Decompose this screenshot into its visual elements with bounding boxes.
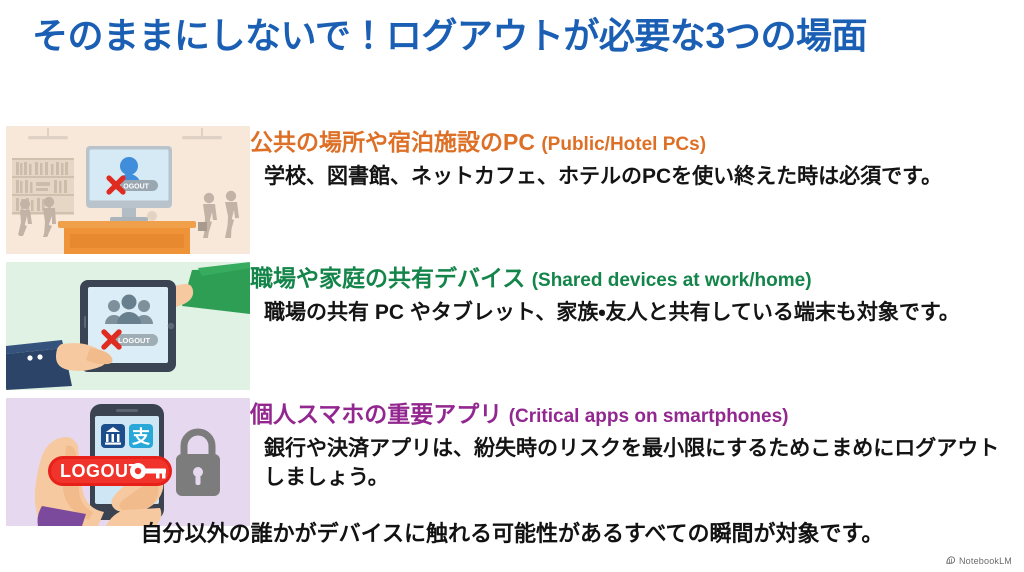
smartphone-banking-logout-illustration: 支 <box>6 398 250 526</box>
section-shared-devices: LOGOUT <box>0 262 1024 392</box>
svg-text:LOGOUT: LOGOUT <box>118 336 150 345</box>
section-2-heading: 職場や家庭の共有デバイス (Shared devices at work/hom… <box>250 264 1002 293</box>
section-3-body: 銀行や決済アプリは、紛失時のリスクを最小限にするためこまめにログアウトしましょう… <box>250 435 1002 493</box>
notebooklm-watermark-label: NotebookLM <box>959 556 1012 566</box>
section-3-heading: 個人スマホの重要アプリ (Critical apps on smartphone… <box>250 400 1002 429</box>
section-2-text: 職場や家庭の共有デバイス (Shared devices at work/hom… <box>250 262 1024 328</box>
ceiling-lamp-right <box>182 136 222 139</box>
user-avatar-icon <box>120 157 138 175</box>
bank-app-icon <box>101 424 125 448</box>
section-1-heading-ja: 公共の場所や宿泊施設のPC <box>250 129 535 155</box>
ceiling-lamp-left <box>28 136 68 139</box>
section-3-heading-en: (Critical apps on smartphones) <box>509 406 789 427</box>
footer-note: 自分以外の誰かがデバイスに触れる可能性があるすべての瞬間が対象です。 <box>0 516 1024 548</box>
section-1-heading-en: (Public/Hotel PCs) <box>541 134 706 155</box>
shared-tablet-scene-svg: LOGOUT <box>6 262 250 390</box>
notebooklm-logo-icon <box>945 555 956 566</box>
section-1-heading: 公共の場所や宿泊施設のPC (Public/Hotel PCs) <box>250 128 1002 157</box>
svg-text:LOGOUT: LOGOUT <box>60 461 140 481</box>
sections-list: LOGOUT <box>0 126 1024 534</box>
payment-app-icon: 支 <box>129 424 153 448</box>
section-3-text: 個人スマホの重要アプリ (Critical apps on smartphone… <box>250 398 1024 493</box>
library-public-pc-illustration: LOGOUT <box>6 126 250 254</box>
section-2-heading-en: (Shared devices at work/home) <box>532 270 812 291</box>
section-1-thumbnail-wrap: LOGOUT <box>0 126 250 254</box>
notebooklm-watermark: NotebookLM <box>945 555 1012 566</box>
shared-tablet-handover-illustration: LOGOUT <box>6 262 250 390</box>
section-3-thumbnail-wrap: 支 <box>0 398 250 526</box>
section-1-text: 公共の場所や宿泊施設のPC (Public/Hotel PCs) 学校、図書館、… <box>250 126 1024 192</box>
section-public-hotel-pcs: LOGOUT <box>0 126 1024 256</box>
page-title: そのままにしないで！ログアウトが必要な3つの場面 <box>32 14 994 57</box>
svg-text:支: 支 <box>132 426 151 447</box>
red-logout-button[interactable]: LOGOUT <box>48 456 172 486</box>
section-2-heading-ja: 職場や家庭の共有デバイス <box>250 265 525 291</box>
reception-counter <box>58 221 196 254</box>
section-2-thumbnail-wrap: LOGOUT <box>0 262 250 390</box>
section-smartphone-apps: 支 <box>0 398 1024 528</box>
library-scene-svg: LOGOUT <box>6 126 250 254</box>
smartphone-scene-svg: 支 <box>6 398 250 526</box>
section-1-body: 学校、図書館、ネットカフェ、ホテルのPCを使い終えた時は必須です。 <box>250 163 1002 192</box>
slide-root: そのままにしないで！ログアウトが必要な3つの場面 <box>0 0 1024 572</box>
section-3-heading-ja: 個人スマホの重要アプリ <box>250 401 502 427</box>
section-2-body: 職場の共有 PC やタブレット、家族・友人と共有している端末も対象です。 <box>250 299 1002 328</box>
